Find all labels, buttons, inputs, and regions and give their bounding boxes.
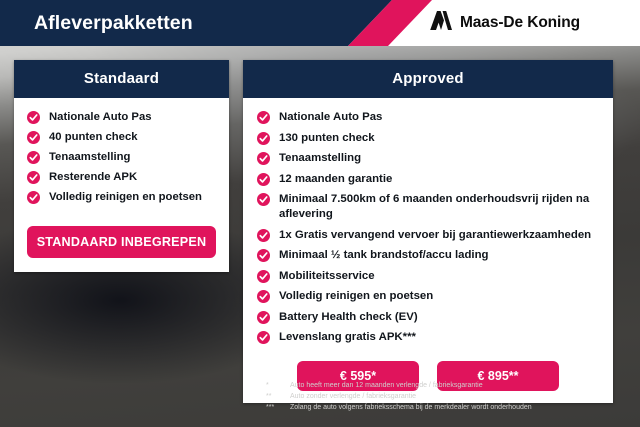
check-circle-icon	[257, 229, 270, 242]
list-item: Battery Health check (EV)	[257, 310, 599, 325]
check-circle-icon	[27, 111, 40, 124]
feature-label: Resterende APK	[49, 171, 137, 183]
list-item: Minimaal 7.500km of 6 maanden onderhouds…	[257, 192, 599, 222]
list-item: 1x Gratis vervangend vervoer bij garanti…	[257, 228, 599, 243]
check-circle-icon	[257, 290, 270, 303]
afleverpakketten-page: Afleverpakketten Maas-De Koning Standaar…	[0, 0, 640, 427]
list-item: Volledig reinigen en poetsen	[27, 190, 216, 205]
feature-label: Minimaal ½ tank brandstof/accu lading	[279, 249, 489, 261]
card-standaard-body: Nationale Auto Pas40 punten checkTenaams…	[14, 98, 229, 272]
feature-label: 130 punten check	[279, 132, 375, 144]
list-item: 12 maanden garantie	[257, 172, 599, 187]
feature-label: Volledig reinigen en poetsen	[279, 290, 433, 302]
check-circle-icon	[27, 191, 40, 204]
page-title: Afleverpakketten	[34, 0, 193, 46]
footnote-text: Zolang de auto volgens fabrieksschema bi…	[290, 402, 532, 413]
check-circle-icon	[257, 249, 270, 262]
feature-label: Mobiliteitsservice	[279, 270, 375, 282]
feature-label: Battery Health check (EV)	[279, 311, 418, 323]
brand-lockup: Maas-De Koning	[429, 0, 580, 46]
feature-label: Minimaal 7.500km of 6 maanden onderhouds…	[279, 193, 589, 220]
card-approved-title: Approved	[243, 60, 613, 98]
list-item: Mobiliteitsservice	[257, 269, 599, 284]
check-circle-icon	[257, 173, 270, 186]
list-item: Resterende APK	[27, 170, 216, 185]
footnote: *Auto heeft meer dan 12 maanden verlengd…	[266, 380, 626, 391]
feature-label: 1x Gratis vervangend vervoer bij garanti…	[279, 229, 591, 241]
list-item: Levenslang gratis APK***	[257, 330, 599, 345]
check-circle-icon	[257, 152, 270, 165]
check-circle-icon	[257, 193, 270, 206]
check-circle-icon	[27, 131, 40, 144]
check-circle-icon	[257, 331, 270, 344]
footnote: ***Zolang de auto volgens fabrieksschema…	[266, 402, 626, 413]
feature-label: Tenaamstelling	[49, 151, 130, 163]
list-item: 130 punten check	[257, 131, 599, 146]
footnotes: *Auto heeft meer dan 12 maanden verlengd…	[266, 380, 626, 413]
feature-label: Nationale Auto Pas	[49, 111, 152, 123]
list-item: Tenaamstelling	[257, 151, 599, 166]
list-item: 40 punten check	[27, 130, 216, 145]
list-item: Tenaamstelling	[27, 150, 216, 165]
check-circle-icon	[27, 151, 40, 164]
standaard-feature-list: Nationale Auto Pas40 punten checkTenaams…	[27, 110, 216, 205]
card-standaard-title: Standaard	[14, 60, 229, 98]
card-standaard: Standaard Nationale Auto Pas40 punten ch…	[14, 60, 229, 272]
footnote-text: Auto heeft meer dan 12 maanden verlengde…	[290, 380, 483, 391]
list-item: Minimaal ½ tank brandstof/accu lading	[257, 248, 599, 263]
footnote-marker: **	[266, 391, 290, 402]
check-circle-icon	[257, 311, 270, 324]
standaard-inbegrepen-button[interactable]: STANDAARD INBEGREPEN	[27, 226, 216, 258]
page-header: Afleverpakketten Maas-De Koning	[0, 0, 640, 46]
check-circle-icon	[27, 171, 40, 184]
maas-de-koning-m-logo-icon	[429, 10, 453, 36]
footnote-text: Auto zonder verlengde / fabrieksgarantie	[290, 391, 416, 402]
card-approved: Approved Nationale Auto Pas130 punten ch…	[243, 60, 613, 403]
feature-label: 12 maanden garantie	[279, 173, 392, 185]
list-item: Nationale Auto Pas	[257, 110, 599, 125]
brand-name: Maas-De Koning	[460, 14, 580, 32]
approved-feature-list: Nationale Auto Pas130 punten checkTenaam…	[257, 110, 599, 345]
feature-label: 40 punten check	[49, 131, 138, 143]
feature-label: Tenaamstelling	[279, 152, 361, 164]
feature-label: Nationale Auto Pas	[279, 111, 382, 123]
check-circle-icon	[257, 111, 270, 124]
footnote-marker: *	[266, 380, 290, 391]
feature-label: Volledig reinigen en poetsen	[49, 191, 202, 203]
check-circle-icon	[257, 270, 270, 283]
list-item: Volledig reinigen en poetsen	[257, 289, 599, 304]
footnote: **Auto zonder verlengde / fabrieksgarant…	[266, 391, 626, 402]
check-circle-icon	[257, 132, 270, 145]
footnote-marker: ***	[266, 402, 290, 413]
card-approved-body: Nationale Auto Pas130 punten checkTenaam…	[243, 98, 613, 403]
feature-label: Levenslang gratis APK***	[279, 331, 416, 343]
list-item: Nationale Auto Pas	[27, 110, 216, 125]
